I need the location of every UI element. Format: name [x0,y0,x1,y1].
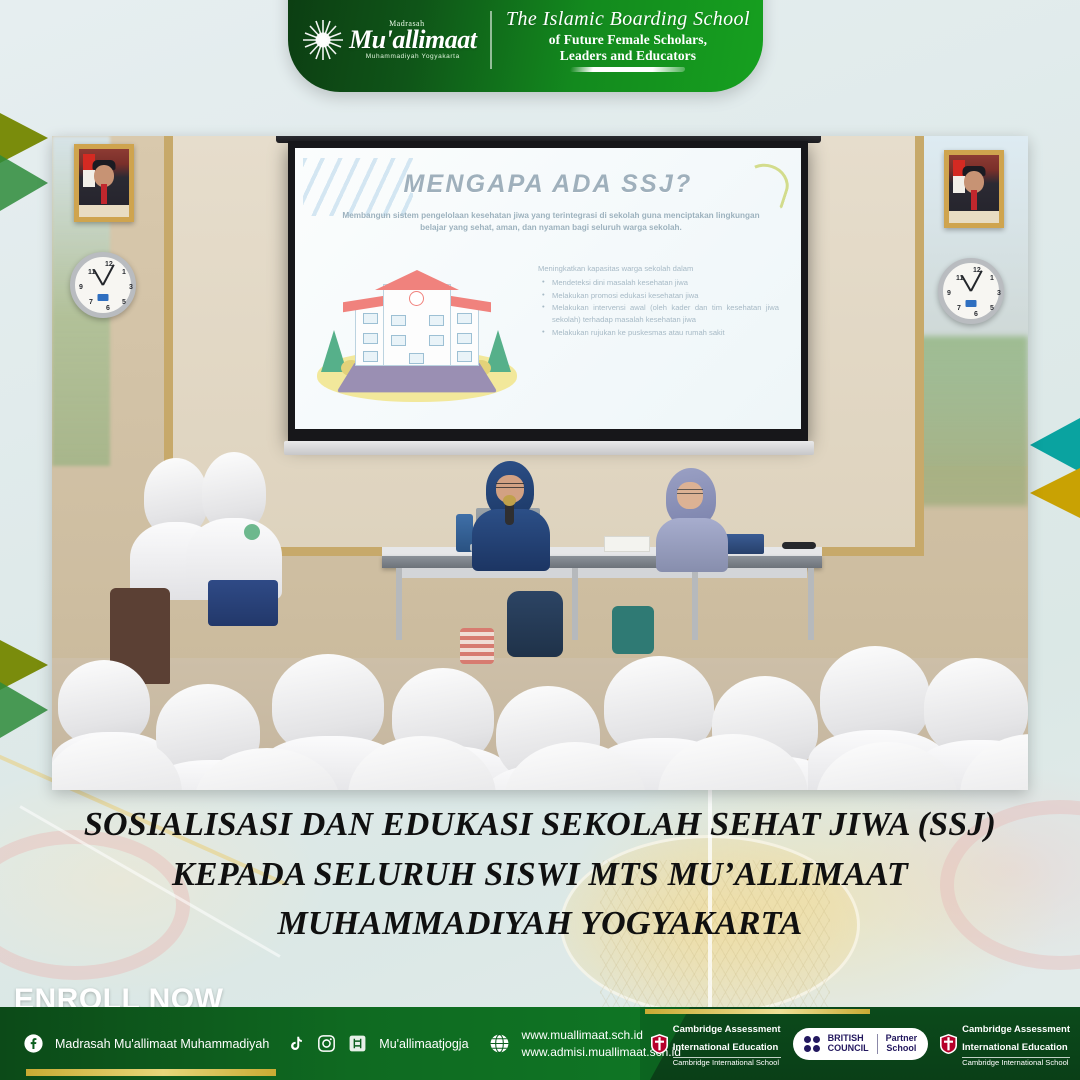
logo-name: Mu'allimaat [349,27,476,53]
slide-school-illustration [317,270,517,402]
title-line-3: MUHAMMADIYAH YOGYAKARTA [0,899,1080,949]
slide-title: MENGAPA ADA SSJ? [295,170,801,199]
audience-row-front [950,734,1028,790]
facebook-page-name[interactable]: Madrasah Mu'allimaat Muhammadiyah [55,1037,269,1051]
tagline-brush-stroke [570,67,686,72]
globe-icon[interactable] [489,1033,510,1054]
audience-row-front [338,736,518,790]
slide-lead-paragraph: Membangun sistem pengelolaan kesehatan j… [333,210,769,235]
cambridge-logo-left: Cambridge Assessment International Educa… [651,1019,781,1067]
bag-teal [612,606,654,654]
audience-row-front [492,742,668,790]
school-logo: Madrasah Mu'allimaat Muhammadiyah Yogyak… [301,18,476,62]
british-council-partner-badge: BRITISH COUNCIL Partner School [793,1028,929,1060]
chevron-left-green-top [0,155,48,211]
presenter-with-microphone [472,461,550,571]
chevron-right-gold [1030,468,1080,518]
projector-screen-weight-bar [284,441,814,455]
presenter-table [382,556,822,568]
badge-divider [877,1034,878,1054]
cambridge-line-1: Cambridge Assessment [962,1024,1070,1035]
social-handle[interactable]: Mu'allimaatjogja [379,1037,468,1051]
wall-clock-right: 12 1 3 5 6 7 9 11 [938,258,1004,324]
title-line-2: KEPADA SELURUH SISWI MTS MU’ALLIMAAT [0,850,1080,900]
footer-bar: Madrasah Mu'allimaat Muhammadiyah [0,1007,1080,1080]
presidential-portrait-left [74,144,134,222]
poster-title: SOSIALISASI DAN EDUKASI SEKOLAH SEHAT JI… [0,800,1080,949]
papers-on-table [604,536,650,552]
cambridge-shield-icon [651,1034,668,1054]
slide-bullet-section: Meningkatkan kapasitas warga sekolah dal… [538,263,779,340]
tiktok-icon[interactable] [287,1034,305,1053]
title-line-1: SOSIALISASI DAN EDUKASI SEKOLAH SEHAT JI… [0,800,1080,850]
slide-bullet: Mendeteksi dini masalah kesehatan jiwa [552,277,779,289]
threads-icon[interactable] [348,1034,367,1053]
slide-bullet: Melakukan intervensi awal (oleh kader da… [552,302,779,326]
window-right-foliage [908,336,1028,506]
logo-subtitle: Muhammadiyah Yogyakarta [349,54,476,61]
audience-row-front [648,734,830,790]
cambridge-line-3: Cambridge International School [673,1057,781,1068]
table-leg [808,568,814,640]
slide-bullet: Melakukan rujukan ke puskesmas atau ruma… [552,327,779,339]
poster-canvas: Madrasah Mu'allimaat Muhammadiyah Yogyak… [0,0,1080,1080]
table-leg [692,568,698,640]
presenter-seated [654,468,730,572]
cambridge-line-2: International Education [962,1042,1068,1053]
slide-bullet: Melakukan promosi edukasi kesehatan jiwa [552,290,779,302]
header-divider [490,11,492,69]
partner-line-1: Partner [886,1033,918,1043]
table-leg [572,568,578,640]
facebook-icon[interactable] [24,1034,43,1053]
chevron-left-green-bottom [0,682,48,738]
header-tagline: The Islamic Boarding School of Future Fe… [506,8,750,72]
website-url-main[interactable]: www.muallimaat.sch.id [522,1028,643,1042]
british-council-line-2: COUNCIL [828,1043,869,1053]
partner-line-2: School [886,1043,916,1053]
header-banner: Madrasah Mu'allimaat Muhammadiyah Yogyak… [288,0,763,92]
seated-student-left-2 [186,452,282,600]
bag-striped [460,628,494,664]
projector-screen: MENGAPA ADA SSJ? Membangun sistem pengel… [288,141,808,441]
wall-clock-left: 12 1 3 5 6 7 9 11 [70,252,136,318]
audience-row-front [182,748,364,790]
presidential-portrait-right [944,150,1004,228]
muhammadiyah-sun-icon [301,18,345,62]
presenter-table-apron [397,568,807,578]
cambridge-line-3: Cambridge International School [962,1057,1070,1068]
cambridge-shield-icon [940,1034,957,1054]
desk-microphone [782,542,816,549]
cambridge-logo-right: Cambridge Assessment International Educa… [940,1019,1070,1067]
cambridge-line-2: International Education [673,1042,779,1053]
tagline-script: The Islamic Boarding School [506,8,750,30]
table-leg [396,568,402,640]
backpack-navy [507,591,563,657]
cambridge-line-1: Cambridge Assessment [673,1024,781,1035]
instagram-icon[interactable] [317,1034,336,1053]
presentation-slide: MENGAPA ADA SSJ? Membangun sistem pengel… [295,148,801,429]
slide-section-heading: Meningkatkan kapasitas warga sekolah dal… [538,263,779,275]
british-council-dots-icon [804,1036,820,1052]
tagline-line-1: of Future Female Scholars, [506,32,750,47]
chevron-right-teal [1030,418,1080,472]
event-photo: 12 1 3 5 6 7 9 11 12 1 3 5 6 7 9 11 [52,136,1028,790]
tagline-line-2: Leaders and Educators [506,48,750,63]
